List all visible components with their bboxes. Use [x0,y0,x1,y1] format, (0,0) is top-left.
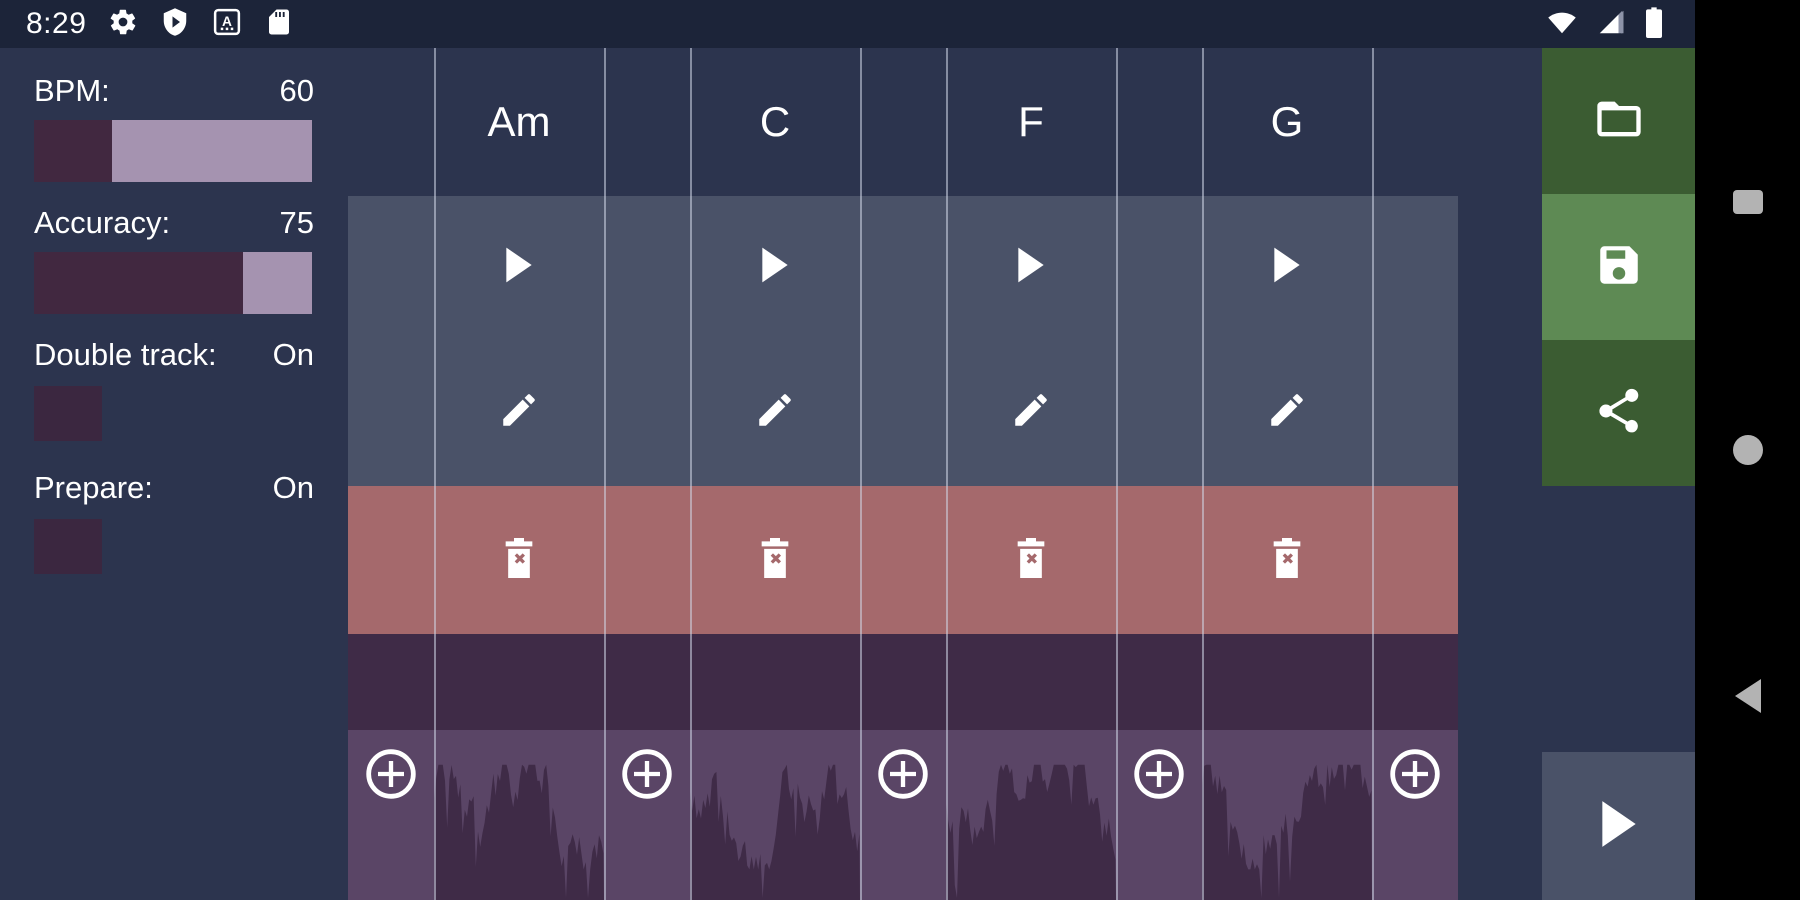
wifi-icon [1545,7,1579,42]
grid-column-insert [860,48,946,900]
control-prepare: Prepare: On [34,471,314,574]
grid-column-insert [1116,48,1202,900]
plus-circle-icon [1372,748,1458,800]
cell-signal-icon [1595,7,1627,42]
chord-header-cell[interactable]: G [1202,48,1372,196]
insert-chord-button[interactable] [1116,634,1202,900]
chord-header-empty [860,48,946,196]
status-bar-right [1545,6,1695,43]
play-chord-button[interactable] [434,196,604,338]
insert-chord-button[interactable] [348,634,434,900]
chord-label: Am [488,101,551,143]
plus-circle-icon [860,748,946,800]
edit-row-spacer [604,338,690,486]
edit-chord-button[interactable] [946,338,1116,486]
status-clock: 8:29 [26,9,86,39]
play-icon [502,246,536,289]
chord-label: F [1018,101,1044,143]
chord-header-cell[interactable]: C [690,48,860,196]
edit-row-spacer [1116,338,1202,486]
app-screen: 8:29 A [0,0,1800,900]
play-row-spacer [1372,196,1458,338]
plus-circle-icon [1116,748,1202,800]
edit-chord-button[interactable] [690,338,860,486]
pencil-icon [754,389,796,436]
grid-columns: AmCFG [348,48,1458,900]
delete-row-spacer [348,486,434,634]
control-double-track-header: Double track: On [34,338,314,372]
home-button[interactable] [1695,420,1800,480]
double-track-toggle[interactable] [34,386,102,441]
back-button[interactable] [1695,666,1800,726]
delete-row-spacer [1372,486,1458,634]
play-chord-button[interactable] [690,196,860,338]
waveform-cell[interactable] [946,634,1116,900]
grid-column-chord: Am [434,48,604,900]
insert-chord-button[interactable] [860,634,946,900]
trash-x-icon [1270,538,1304,583]
play-row-spacer [604,196,690,338]
chord-header-empty [1372,48,1458,196]
chord-header-cell[interactable]: F [946,48,1116,196]
play-row-spacer [860,196,946,338]
status-bar: 8:29 A [0,0,1695,48]
pencil-icon [498,389,540,436]
gear-icon [108,7,138,42]
control-double-track-value: On [273,338,314,372]
play-row-spacer [348,196,434,338]
share-button[interactable] [1542,340,1695,486]
grid-column-insert [1372,48,1458,900]
control-prepare-value: On [273,471,314,505]
grid-column-chord: G [1202,48,1372,900]
play-icon [758,246,792,289]
delete-chord-button[interactable] [1202,486,1372,634]
bpm-slider-fill [34,120,112,182]
control-bpm-value: 60 [280,74,314,108]
chord-header-cell[interactable]: Am [434,48,604,196]
insert-chord-button[interactable] [1372,634,1458,900]
plus-circle-icon [604,748,690,800]
delete-row-spacer [1116,486,1202,634]
open-button[interactable] [1542,48,1695,194]
control-bpm-header: BPM: 60 [34,74,314,108]
recents-square-icon [1733,190,1763,214]
chord-header-empty [604,48,690,196]
android-nav-bar [1695,0,1800,900]
waveform-cell[interactable] [434,634,604,900]
play-icon [1014,246,1048,289]
save-icon [1594,240,1644,295]
delete-chord-button[interactable] [690,486,860,634]
control-accuracy-header: Accuracy: 75 [34,206,314,240]
shield-play-icon [160,7,190,42]
play-chord-button[interactable] [1202,196,1372,338]
folder-icon [1593,93,1645,150]
bpm-slider[interactable] [34,120,312,182]
chord-header-empty [348,48,434,196]
waveform-cell[interactable] [690,634,860,900]
play-row-spacer [1116,196,1202,338]
play-icon [1270,246,1304,289]
chord-label: C [760,101,790,143]
home-circle-icon [1733,435,1763,465]
edit-row-spacer [348,338,434,486]
waveform-cell[interactable] [1202,634,1372,900]
file-toolbar [1542,48,1695,900]
delete-row-spacer [860,486,946,634]
delete-chord-button[interactable] [434,486,604,634]
sd-card-icon [264,7,294,42]
pencil-icon [1010,389,1052,436]
plus-circle-icon [348,748,434,800]
delete-chord-button[interactable] [946,486,1116,634]
control-accuracy-value: 75 [280,206,314,240]
trash-x-icon [502,538,536,583]
grid-column-insert [604,48,690,900]
trash-x-icon [758,538,792,583]
grid-column-insert [348,48,434,900]
control-bpm: BPM: 60 [34,74,314,182]
edit-row-spacer [860,338,946,486]
grid-column-chord: C [690,48,860,900]
chord-label: G [1271,101,1304,143]
trash-x-icon [1014,538,1048,583]
share-icon [1593,385,1645,442]
edit-row-spacer [1372,338,1458,486]
accuracy-slider-fill [34,252,243,314]
play-chord-button[interactable] [946,196,1116,338]
back-triangle-icon [1735,679,1761,713]
control-bpm-label: BPM: [34,74,110,108]
control-prepare-label: Prepare: [34,471,153,505]
control-double-track: Double track: On [34,338,314,441]
control-accuracy: Accuracy: 75 [34,206,314,314]
recents-button[interactable] [1695,172,1800,232]
save-button[interactable] [1542,194,1695,340]
chord-track-grid: AmCFG [348,48,1542,900]
battery-icon [1643,6,1665,43]
settings-sidebar: BPM: 60 Accuracy: 75 Double track: On [0,48,348,900]
status-bar-left: 8:29 A [0,7,294,42]
chord-header-empty [1116,48,1202,196]
control-accuracy-label: Accuracy: [34,206,170,240]
pencil-icon [1266,389,1308,436]
grid-column-chord: F [946,48,1116,900]
a-subtitle-icon: A [212,7,242,42]
delete-row-spacer [604,486,690,634]
control-double-track-label: Double track: [34,338,217,372]
svg-text:A: A [222,13,232,28]
edit-chord-button[interactable] [1202,338,1372,486]
prepare-toggle[interactable] [34,519,102,574]
edit-chord-button[interactable] [434,338,604,486]
transport-play-button[interactable] [1542,752,1695,900]
play-icon [1596,799,1642,854]
accuracy-slider[interactable] [34,252,312,314]
insert-chord-button[interactable] [604,634,690,900]
control-prepare-header: Prepare: On [34,471,314,505]
